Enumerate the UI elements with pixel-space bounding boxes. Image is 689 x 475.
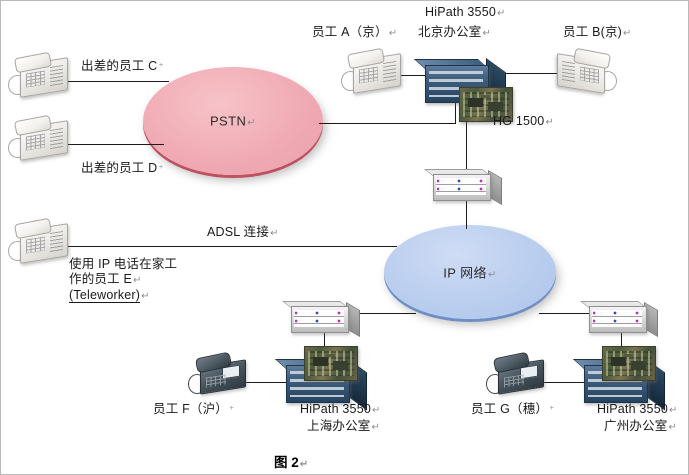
guangzhou-router-icon — [589, 303, 657, 333]
analog-phone-employee-d-icon — [6, 116, 68, 162]
router-leds — [295, 311, 343, 325]
label-hg1500: HG 1500↵ — [493, 114, 554, 130]
link-ip-network-to-guangzhou-router — [539, 313, 589, 314]
analog-phone-employee-a-icon — [339, 49, 401, 95]
router-leds — [593, 311, 641, 325]
label-employee-g: 员工 G（穗）⁺ — [471, 402, 555, 418]
label-employee-f: 员工 F（沪）⁺ — [153, 402, 235, 418]
pstn-cloud: PSTN↵ — [143, 67, 323, 175]
label-adsl-connection: ADSL 连接↵ — [207, 225, 279, 241]
phone-sidekeys-icon — [50, 231, 63, 253]
phone-sidekeys-icon — [383, 61, 396, 83]
pstn-cloud-label: PSTN↵ — [143, 114, 323, 129]
label-hipath-shanghai-line2: 上海办公室↵ — [307, 419, 380, 435]
label-teleworker-line3: (Teleworker) — [69, 288, 140, 303]
phone-sidekeys-icon — [50, 128, 63, 150]
phone-keypad-icon — [580, 66, 599, 83]
link-beijing-pbx-to-employee-b — [501, 73, 559, 74]
link-employee-f-to-shanghai-pbx — [243, 382, 287, 383]
hg1500-board-guangzhou-icon — [602, 346, 656, 381]
phone-sidekeys-icon — [50, 65, 63, 87]
phone-sidekeys-icon — [562, 61, 575, 83]
hg1500-board-shanghai-icon — [304, 346, 358, 381]
label-hipath-beijing-line2: 北京办公室↵ — [418, 25, 491, 41]
link-teleworker-adsl-to-ip-network — [57, 246, 397, 247]
analog-phone-teleworker-icon — [6, 219, 68, 265]
label-teleworker: 使用 IP 电话在家工 作的员工 E↵ (Teleworker)↵ — [69, 257, 219, 304]
label-employee-b: 员工 B(京)↵ — [563, 25, 632, 41]
label-hipath-beijing-line1: HiPath 3550↵ — [425, 5, 506, 21]
link-router-to-ip-network — [466, 197, 467, 229]
shanghai-router-icon — [291, 303, 359, 333]
figure-caption: 图 2↵ — [274, 451, 308, 471]
label-teleworker-line2: 作的员工 E — [69, 272, 132, 286]
network-diagram-canvas: PSTN↵ IP 网络↵ — [0, 0, 689, 475]
link-employee-d-to-pstn — [59, 144, 164, 145]
label-hipath-shanghai-line1: HiPath 3550↵ — [300, 402, 381, 418]
label-employee-c: 出差的员工 C⁺ — [81, 59, 164, 75]
analog-phone-employee-c-icon — [6, 53, 68, 99]
label-employee-d: 出差的员工 D⁺ — [81, 161, 164, 177]
router-leds — [437, 179, 485, 193]
label-hipath-guangzhou-line1: HiPath 3550↵ — [597, 402, 678, 418]
analog-phone-employee-b-icon — [557, 49, 619, 95]
link-employee-c-to-pstn — [59, 81, 169, 82]
label-teleworker-line1: 使用 IP 电话在家工 — [69, 257, 177, 271]
label-hipath-guangzhou-line2: 广州办公室↵ — [604, 419, 677, 435]
ip-phone-employee-f-icon — [186, 353, 248, 397]
core-router-icon — [433, 171, 501, 201]
link-ip-network-to-shanghai-router — [356, 313, 416, 314]
ip-network-cloud: IP 网络↵ — [384, 225, 556, 319]
ip-phone-employee-g-icon — [484, 353, 546, 397]
link-pstn-to-beijing-pbx-h — [319, 123, 456, 124]
ip-network-cloud-label: IP 网络↵ — [384, 263, 556, 282]
link-employee-g-to-guangzhou-pbx — [541, 382, 585, 383]
label-employee-a: 员工 A（京）↵ — [312, 25, 397, 41]
